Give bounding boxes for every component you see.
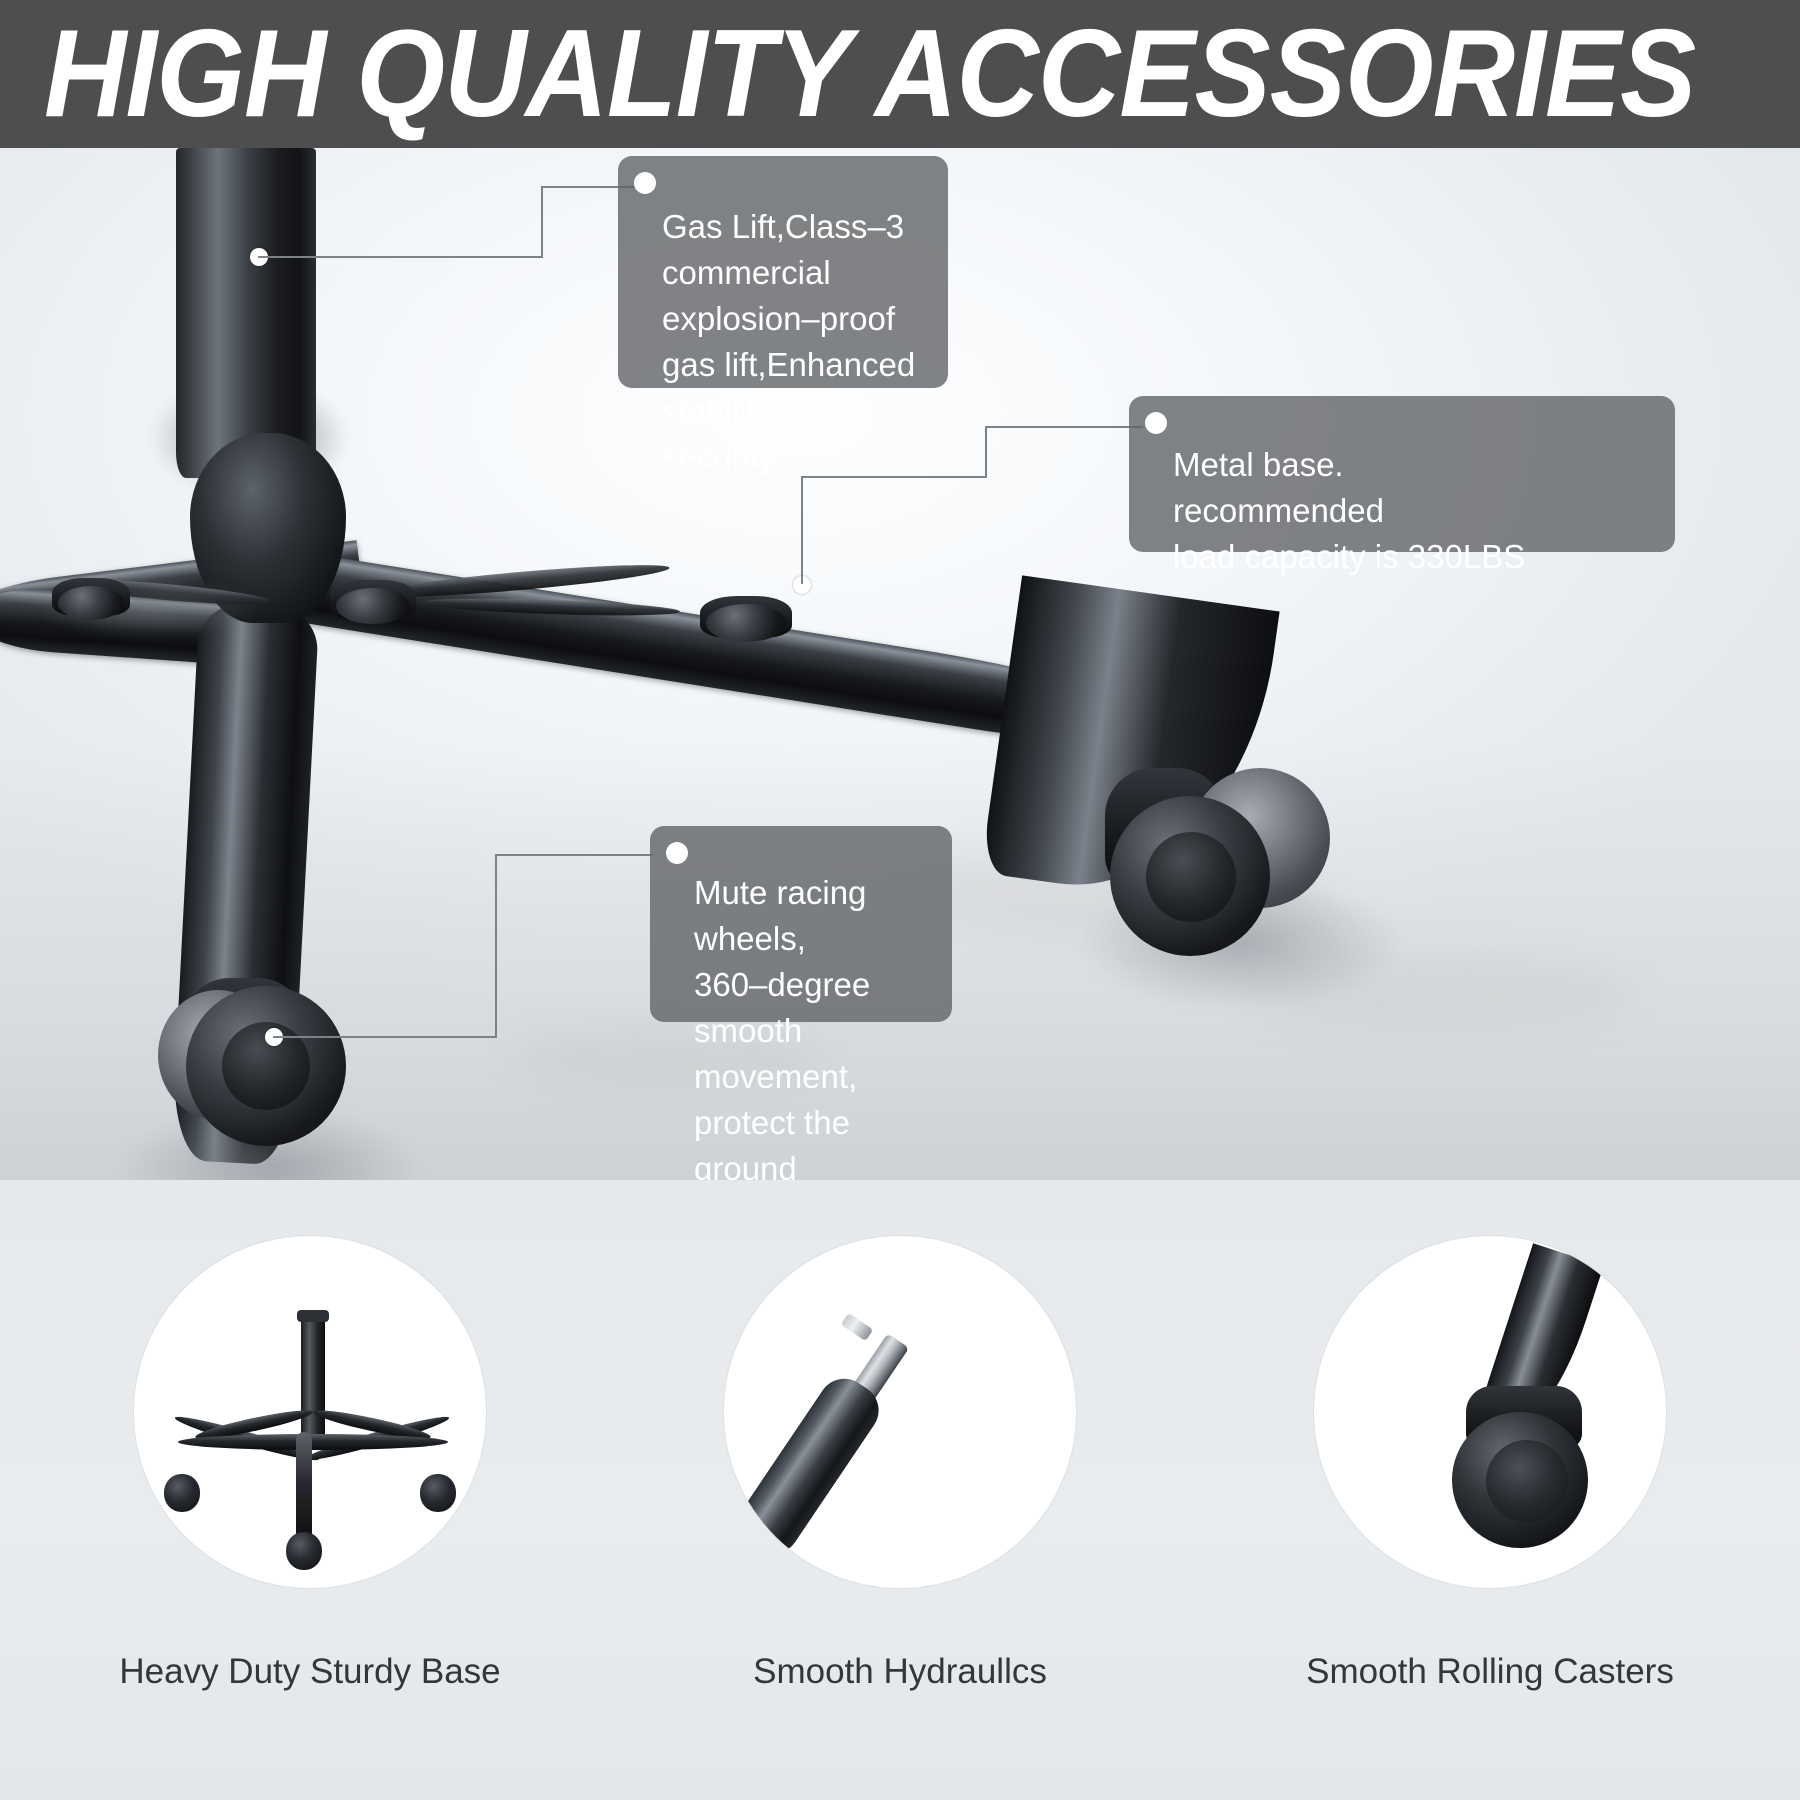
thumbnail-caption-rolling-casters: Smooth Rolling Casters: [1190, 1650, 1790, 1694]
callout-marker-dot: [634, 172, 656, 194]
callout-mute-wheels-text: Mute racing wheels, 360–degree smooth mo…: [694, 870, 934, 1180]
callout-marker-dot: [666, 842, 688, 864]
thumbnail-caption-hydraulics: Smooth Hydraullcs: [600, 1650, 1200, 1694]
callout-metal-base-text: Metal base. recommended load capacity is…: [1173, 442, 1657, 580]
callout-marker-dot: [1145, 412, 1167, 434]
product-infographic: HIGH QUALITY ACCESSORIES: [0, 0, 1800, 1800]
gas-cylinder-shape: [731, 1369, 889, 1561]
thumbnail-rolling-casters: [1314, 1236, 1666, 1588]
callout-metal-base: Metal base. recommended load capacity is…: [1129, 396, 1675, 552]
leader-line-metal-base: [985, 426, 1143, 428]
leader-line-mute-wheels: [495, 854, 653, 856]
leader-line-metal-base: [801, 476, 985, 478]
thumbnail-caption-sturdy-base: Heavy Duty Sturdy Base: [10, 1650, 610, 1694]
thumbnail-sturdy-base: [134, 1236, 486, 1588]
leader-line-mute-wheels: [495, 854, 497, 1038]
callout-mute-wheels: Mute racing wheels, 360–degree smooth mo…: [650, 826, 952, 1022]
header-banner: HIGH QUALITY ACCESSORIES: [0, 0, 1800, 148]
product-photo: Gas Lift,Class–3 commercial explosion–pr…: [0, 148, 1800, 1180]
leader-line-gas-lift: [258, 256, 541, 258]
gas-cylinder-rod-tip-shape: [841, 1313, 874, 1341]
leader-line-gas-lift: [541, 186, 543, 258]
leader-line-metal-base: [985, 426, 987, 478]
gas-post-top-shape: [297, 1310, 329, 1322]
gas-lift-column: [176, 148, 316, 478]
caster-shape: [164, 1474, 200, 1512]
leader-line-mute-wheels: [273, 1036, 495, 1038]
callout-gas-lift: Gas Lift,Class–3 commercial explosion–pr…: [618, 156, 948, 388]
page-title: HIGH QUALITY ACCESSORIES: [44, 12, 1695, 136]
caster-hub-shape: [1486, 1440, 1568, 1522]
feature-thumbnail-row: Heavy Duty Sturdy Base Smooth Hydraullcs…: [0, 1180, 1800, 1800]
gas-post-shape: [301, 1316, 325, 1436]
leader-line-metal-base: [801, 476, 803, 584]
callout-gas-lift-text: Gas Lift,Class–3 commercial explosion–pr…: [662, 204, 930, 480]
caster-shape: [286, 1532, 322, 1570]
thumbnail-hydraulics: [724, 1236, 1076, 1588]
caster-shape: [420, 1474, 456, 1512]
base-arm-shape: [178, 1434, 448, 1450]
